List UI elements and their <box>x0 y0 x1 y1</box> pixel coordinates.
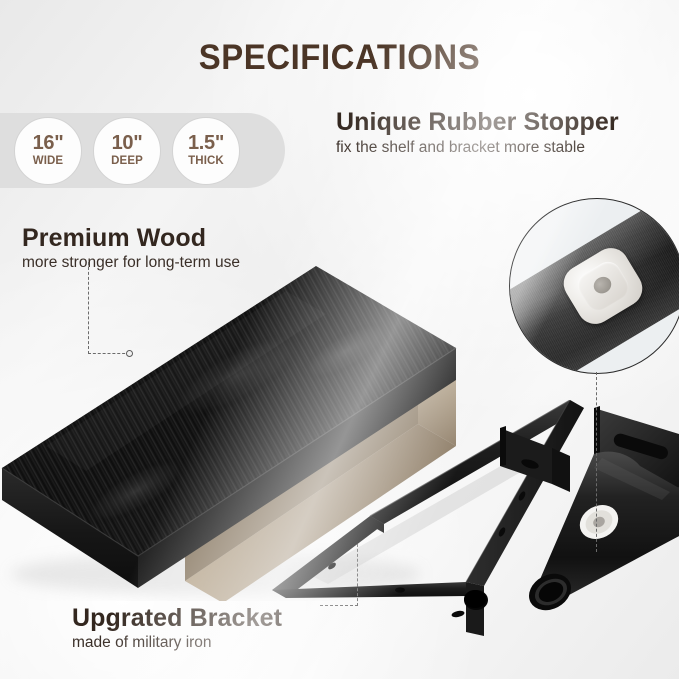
magnifier-circle-rubber-stopper <box>509 198 679 374</box>
badge-deep-value: 10" <box>112 133 143 153</box>
callout-rubber-stopper: Unique Rubber Stopper fix the shelf and … <box>336 108 619 157</box>
bracket-tip-figure <box>500 420 570 500</box>
magnifier-gloss <box>510 199 679 373</box>
badge-wide-value: 16" <box>33 133 64 153</box>
badge-wide-label: WIDE <box>33 156 63 168</box>
badge-wide: 16" WIDE <box>14 117 82 185</box>
callout-upgraded-bracket-subtext: made of military iron <box>72 634 282 652</box>
callout-rubber-stopper-heading: Unique Rubber Stopper <box>336 108 619 137</box>
dimension-badges: 16" WIDE 10" DEEP 1.5" THICK <box>14 113 240 188</box>
badge-thick-value: 1.5" <box>188 133 224 153</box>
page-title: SPECIFICATIONS <box>20 38 658 78</box>
badge-thick: 1.5" THICK <box>172 117 240 185</box>
callout-upgraded-bracket: Upgrated Bracket made of military iron <box>72 604 282 652</box>
callout-premium-wood-heading: Premium Wood <box>22 224 240 253</box>
badge-deep: 10" DEEP <box>93 117 161 185</box>
badge-deep-label: DEEP <box>111 156 143 168</box>
callout-rubber-stopper-subtext: fix the shelf and bracket more stable <box>336 139 619 157</box>
badge-thick-label: THICK <box>188 156 224 168</box>
infographic-canvas: SPECIFICATIONS 16" WIDE 10" DEEP 1.5" TH… <box>0 0 679 679</box>
callout-upgraded-bracket-heading: Upgrated Bracket <box>72 604 282 633</box>
